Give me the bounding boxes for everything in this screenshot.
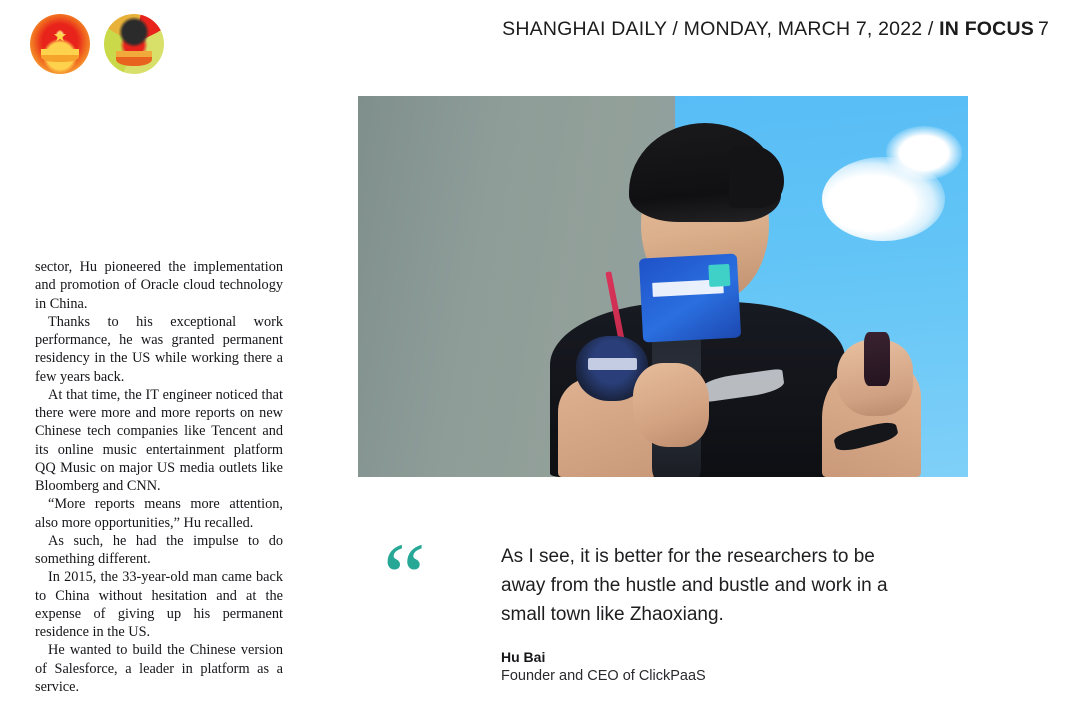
article-paragraph: As such, he had the impulse to do someth…: [35, 532, 283, 569]
article-paragraph: He wanted to build the Chinese version o…: [35, 641, 283, 696]
pull-quote-text: As I see, it is better for the researche…: [501, 542, 921, 629]
masthead-separator-1: /: [667, 18, 684, 40]
cppcc-emblem-icon: [104, 14, 164, 74]
article-photo: [358, 96, 968, 477]
masthead-separator-2: /: [922, 18, 939, 40]
article-paragraph: sector, Hu pioneered the implementation …: [35, 258, 283, 313]
masthead-emblems: [30, 14, 164, 74]
speaker-hair: [629, 123, 780, 222]
article-paragraph: “More reports means more attention, also…: [35, 495, 283, 532]
quote-author-name: Hu Bai: [501, 648, 921, 666]
pull-quote-attribution: Hu Bai Founder and CEO of ClickPaaS: [501, 648, 921, 686]
publication-name: SHANGHAI DAILY: [502, 18, 667, 40]
speaker-hand-holding-microphone: [633, 363, 709, 447]
microphone-flag-logo: [639, 254, 742, 343]
issue-date: MONDAY, MARCH 7, 2022: [684, 18, 923, 40]
article-paragraph: At that time, the IT engineer noticed th…: [35, 386, 283, 496]
masthead-header-line: SHANGHAI DAILY / MONDAY, MARCH 7, 2022 /…: [502, 18, 1049, 41]
national-emblem-of-china-icon: [30, 14, 90, 74]
article-paragraph: In 2015, the 33-year-old man came back t…: [35, 568, 283, 641]
quotation-mark-icon: “: [383, 540, 445, 592]
section-name: IN FOCUS: [939, 18, 1034, 40]
article-paragraph: Thanks to his exceptional work performan…: [35, 313, 283, 386]
newspaper-page: SHANGHAI DAILY / MONDAY, MARCH 7, 2022 /…: [0, 0, 1079, 717]
quote-author-role: Founder and CEO of ClickPaaS: [501, 666, 921, 686]
page-number: 7: [1038, 18, 1049, 40]
presentation-clicker: [864, 332, 890, 385]
article-body-column: sector, Hu pioneered the implementation …: [35, 258, 283, 717]
pull-quote-body: As I see, it is better for the researche…: [501, 542, 921, 686]
photo-speaker: [535, 96, 913, 477]
